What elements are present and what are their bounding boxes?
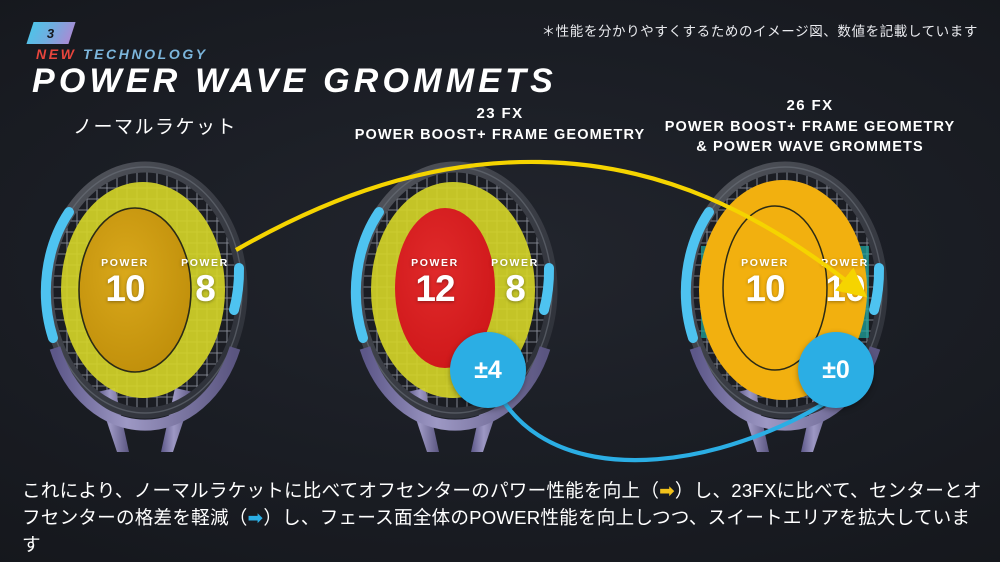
column-heading-26fx-sub-line1: POWER BOOST+ FRAME GEOMETRY: [620, 117, 1000, 137]
frame-accent-cyan-right: [544, 268, 549, 310]
delta-badge-23fx: ±4: [450, 332, 526, 408]
column-heading-26fx-sub-line2: & POWER WAVE GROMMETS: [620, 137, 1000, 157]
racket-diagram-23fx: POWER 12 POWER 8: [335, 160, 585, 460]
column-heading-26fx: 26 FX POWER BOOST+ FRAME GEOMETRY & POWE…: [620, 96, 1000, 157]
delta-badge-26fx: ±0: [798, 332, 874, 408]
footnote-note: ＊性能を分かりやすくするためのイメージ図、数値を記載しています: [542, 20, 978, 40]
racket-diagram-26fx: POWER 10 POWER 10: [665, 160, 915, 460]
page-title: POWER WAVE GROMMETS: [32, 62, 557, 101]
slide-root: 3 NEW TECHNOLOGY POWER WAVE GROMMETS ＊性能…: [0, 0, 1000, 562]
frame-accent-cyan-right: [234, 268, 239, 310]
racket-graphic-normal: [25, 160, 275, 460]
kicker-new-text: NEW: [36, 46, 76, 62]
frame-accent-cyan-right: [874, 268, 879, 310]
kicker-technology-text: TECHNOLOGY: [83, 46, 208, 62]
racket-graphic-23fx: [335, 160, 585, 460]
racket-graphic-26fx: [665, 160, 915, 460]
column-heading-normal-label: ノーマルラケット: [0, 112, 310, 139]
section-number-badge: 3: [26, 22, 75, 44]
caption-line1-b: ）し、23FXに比べて、: [675, 480, 869, 501]
column-heading-26fx-model: 26 FX: [620, 96, 1000, 117]
racket-diagram-normal: POWER 10 POWER 8: [25, 160, 275, 460]
kicker-line: NEW TECHNOLOGY: [36, 46, 208, 62]
arrow-cyan-icon: ➡: [248, 507, 264, 528]
bottom-caption: これにより、ノーマルラケットに比べてオフセンターのパワー性能を向上（➡）し、23…: [22, 478, 984, 558]
section-number-text: 3: [47, 27, 54, 40]
caption-line2-b: ）し、フェース面全体のPOWER性能を向上しつつ、スイー: [263, 507, 764, 528]
column-heading-normal: ノーマルラケット: [0, 112, 310, 139]
power-zone-inner: [79, 208, 191, 372]
arrow-yellow-icon: ➡: [659, 480, 675, 501]
caption-line1-a: これにより、ノーマルラケットに比べてオフセンターのパワー性能を向上（: [22, 480, 659, 501]
